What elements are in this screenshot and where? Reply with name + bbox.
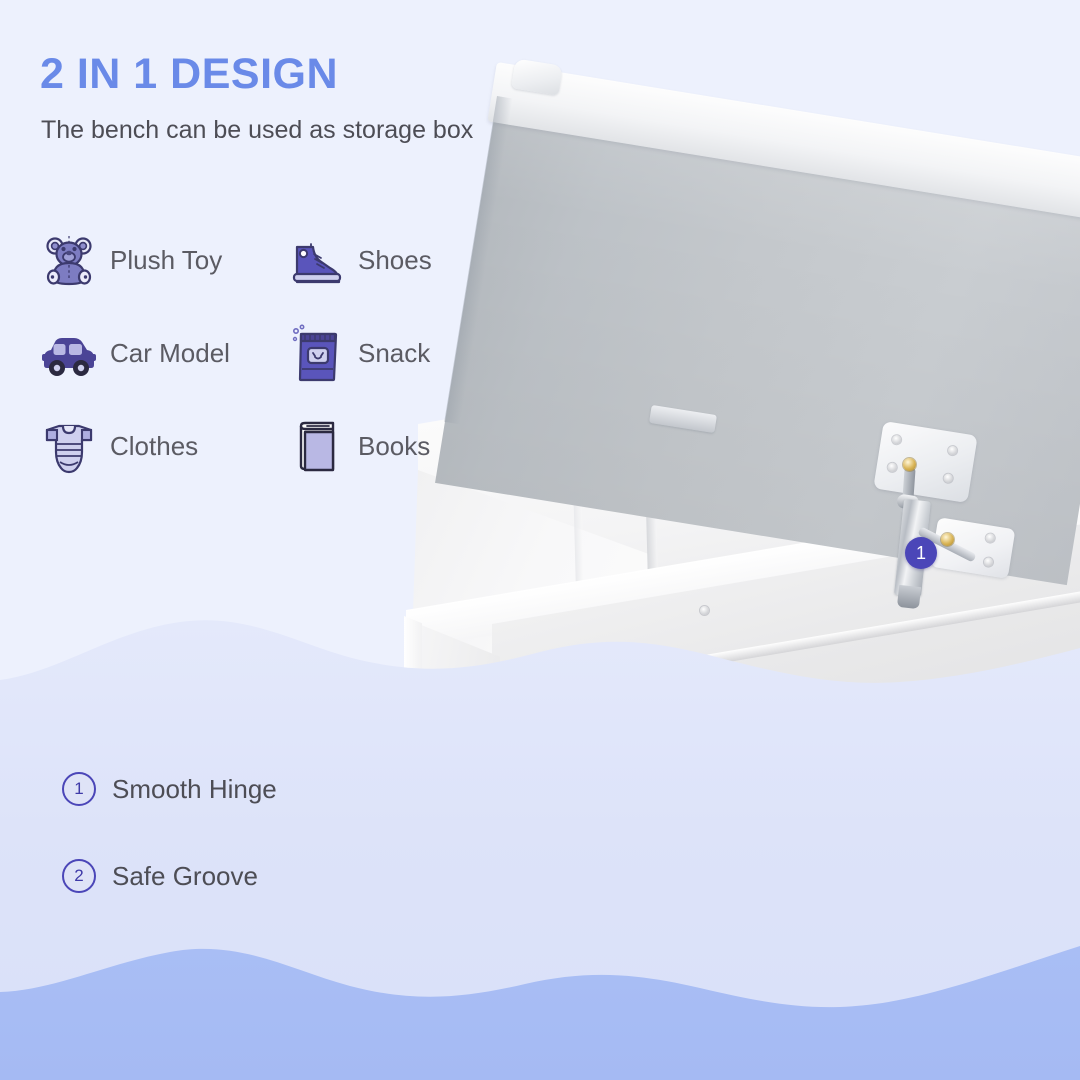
storage-lid xyxy=(497,62,1080,482)
screw-icon xyxy=(947,445,957,455)
feature-label: Snack xyxy=(358,338,430,369)
hinge-pivot-screw xyxy=(903,458,916,471)
hinge-pivot-screw xyxy=(941,533,954,546)
book-icon xyxy=(286,416,348,478)
feature-label: Clothes xyxy=(110,431,198,462)
screw-icon xyxy=(985,533,995,543)
legend-label: Smooth Hinge xyxy=(112,774,277,805)
hinge-upper-plate xyxy=(873,421,977,503)
legend-number-1: 1 xyxy=(62,772,96,806)
feature-row: Plush Toy Shoes xyxy=(38,214,508,307)
feature-label: Plush Toy xyxy=(110,245,222,276)
callout-legend: 1 Smooth Hinge 2 Safe Groove xyxy=(62,772,277,946)
feature-label: Car Model xyxy=(110,338,230,369)
infographic-canvas: 1 2 2 IN 1 DESIGN The bench can be used … xyxy=(0,0,1080,1080)
feature-item-shoes: Shoes xyxy=(286,230,432,292)
feature-item-snack: Snack xyxy=(286,323,430,385)
feature-row: Clothes Books xyxy=(38,400,508,493)
legend-item-smooth-hinge: 1 Smooth Hinge xyxy=(62,772,277,806)
feature-item-clothes: Clothes xyxy=(38,416,286,478)
car-icon xyxy=(38,323,100,385)
feature-item-plush-toy: Plush Toy xyxy=(38,230,286,292)
onesie-icon xyxy=(38,416,100,478)
page-title: 2 IN 1 DESIGN xyxy=(40,50,338,99)
snack-bag-icon xyxy=(286,323,348,385)
legend-number-2: 2 xyxy=(62,859,96,893)
teddy-bear-icon xyxy=(38,230,100,292)
legend-label: Safe Groove xyxy=(112,861,258,892)
feature-list: Plush Toy Shoes xyxy=(38,214,508,493)
legend-item-safe-groove: 2 Safe Groove xyxy=(62,859,277,893)
screw-icon xyxy=(891,435,901,445)
screw-icon xyxy=(943,473,953,483)
feature-row: Car Model xyxy=(38,307,508,400)
feature-label: Shoes xyxy=(358,245,432,276)
screw-icon xyxy=(887,462,897,472)
feature-label: Books xyxy=(358,431,430,462)
page-subtitle: The bench can be used as storage box xyxy=(41,116,473,145)
feature-item-books: Books xyxy=(286,416,430,478)
shoe-icon xyxy=(286,230,348,292)
feature-item-car-model: Car Model xyxy=(38,323,286,385)
